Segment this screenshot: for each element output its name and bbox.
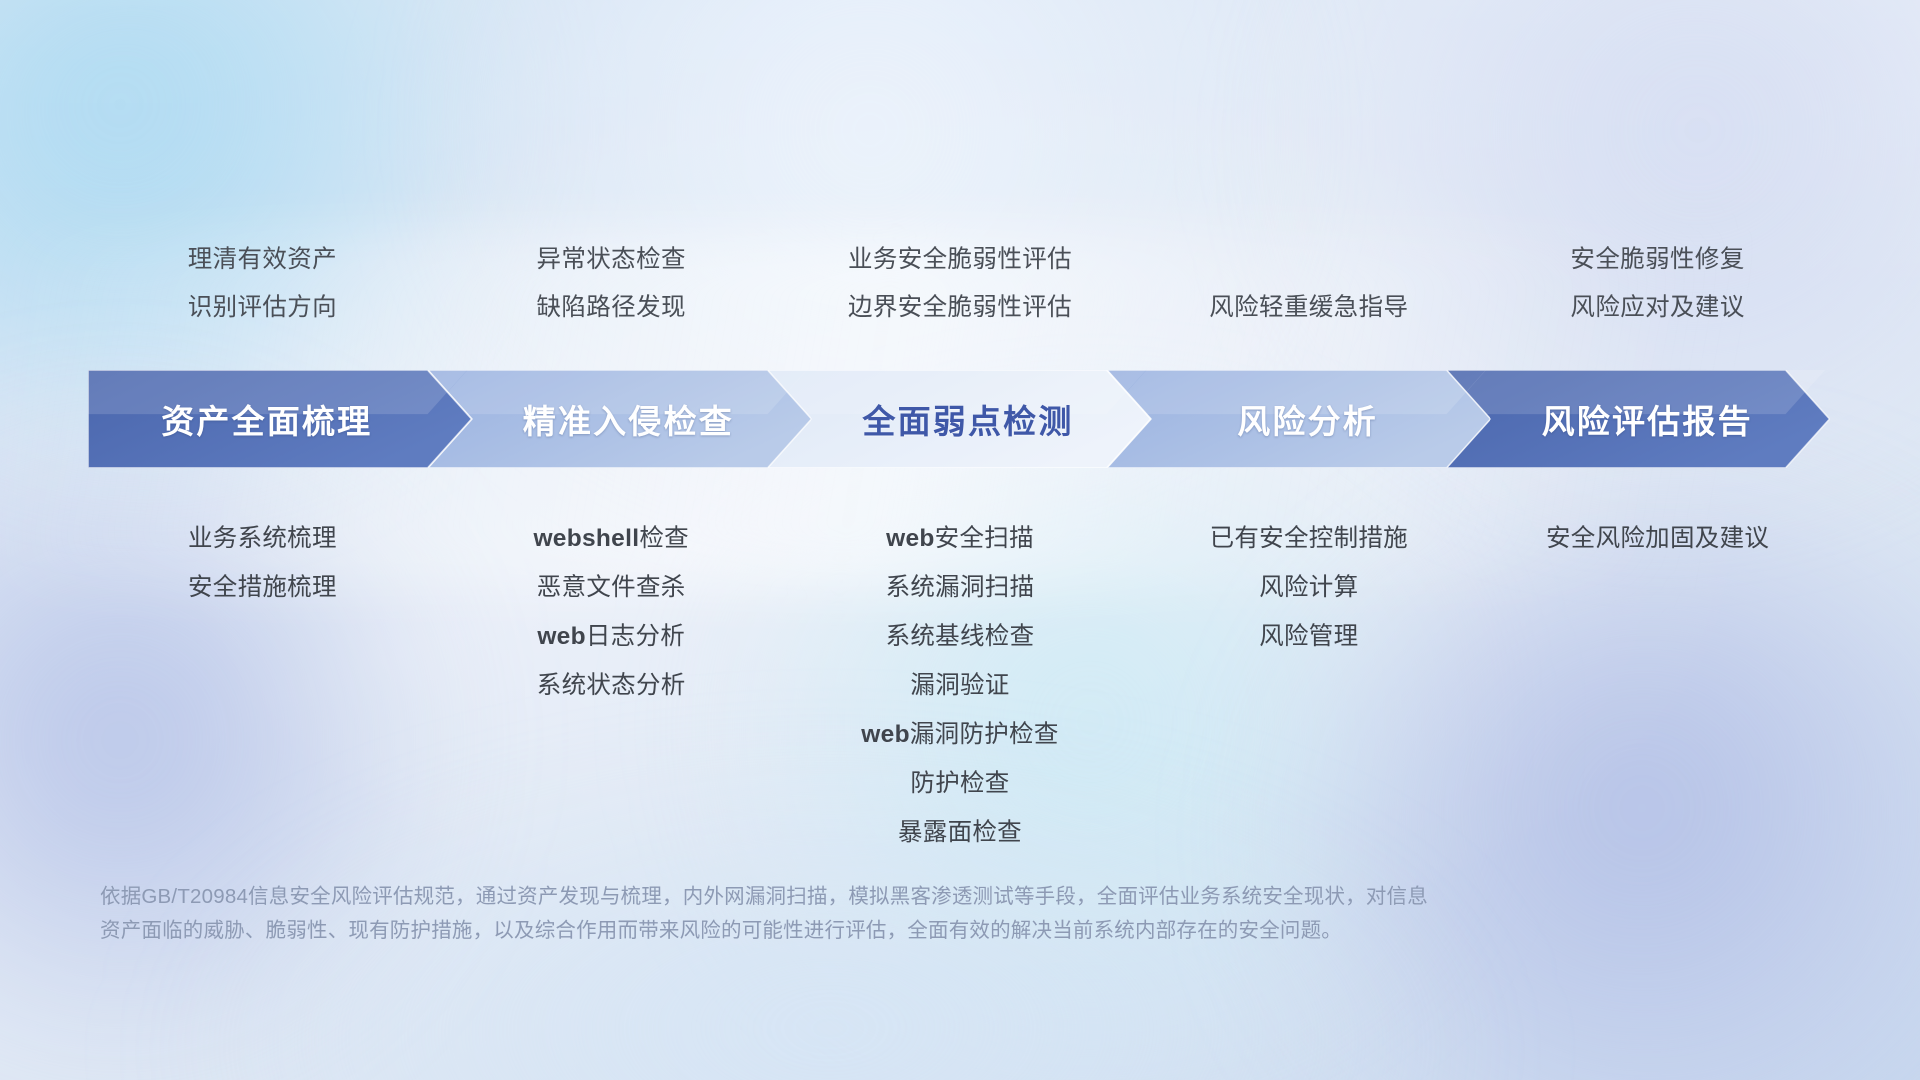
- activity-keyword: web: [886, 525, 935, 552]
- outcome-item: 理清有效资产: [188, 236, 337, 284]
- outcome-item: 风险应对及建议: [1570, 284, 1744, 332]
- activity-text: 漏洞防护检查: [910, 721, 1059, 748]
- outcome-item: 识别评估方向: [188, 284, 337, 332]
- stage-outcomes-risk-analysis: 风险轻重缓急指导: [1134, 236, 1483, 332]
- footer-line-2: 资产面临的威胁、脆弱性、现有防护措施，以及综合作用而带来风险的可能性进行评估，全…: [100, 914, 1620, 948]
- stage-title: 风险分析: [1107, 395, 1491, 443]
- outcome-item: 异常状态检查: [536, 236, 685, 284]
- stage-outcomes-assessment-report: 安全脆弱性修复风险应对及建议: [1483, 236, 1832, 332]
- activity-text: 日志分析: [586, 623, 685, 650]
- process-stage-asset-inventory[interactable]: 资产全面梳理: [88, 370, 472, 468]
- stage-activities-asset-inventory: 业务系统梳理安全措施梳理: [88, 514, 437, 857]
- outcome-item: 业务安全脆弱性评估: [848, 236, 1072, 284]
- activity-item: web日志分析: [537, 612, 685, 661]
- process-arrow-band: 资产全面梳理精准入侵检查全面弱点检测风险分析风险评估报告: [88, 370, 1830, 468]
- activity-item: 安全措施梳理: [188, 563, 337, 612]
- process-stage-weakness-detection[interactable]: 全面弱点检测: [767, 370, 1151, 468]
- process-stage-intrusion-check[interactable]: 精准入侵检查: [428, 370, 812, 468]
- activity-item: 暴露面检查: [898, 808, 1022, 857]
- stage-outcomes-weakness-detection: 业务安全脆弱性评估边界安全脆弱性评估: [786, 236, 1135, 332]
- stage-activities-row: 业务系统梳理安全措施梳理webshell检查恶意文件查杀web日志分析系统状态分…: [88, 514, 1832, 857]
- stage-outcomes-asset-inventory: 理清有效资产识别评估方向: [88, 236, 437, 332]
- activity-item: webshell检查: [533, 514, 689, 563]
- diagram-content: 理清有效资产识别评估方向异常状态检查缺陷路径发现业务安全脆弱性评估边界安全脆弱性…: [0, 0, 1920, 1080]
- activity-keyword: web: [537, 623, 586, 650]
- activity-item: 业务系统梳理: [188, 514, 337, 563]
- activity-item: 系统状态分析: [537, 661, 686, 710]
- activity-item: 安全风险加固及建议: [1546, 514, 1769, 563]
- activity-text: 安全扫描: [935, 525, 1034, 552]
- stage-title: 全面弱点检测: [767, 395, 1151, 443]
- activity-item: 风险计算: [1259, 563, 1358, 612]
- activity-keyword: webshell: [533, 525, 639, 552]
- process-stage-risk-analysis[interactable]: 风险分析: [1107, 370, 1491, 468]
- stage-title: 精准入侵检查: [428, 395, 812, 443]
- diagram-canvas: 理清有效资产识别评估方向异常状态检查缺陷路径发现业务安全脆弱性评估边界安全脆弱性…: [0, 0, 1920, 1080]
- stage-activities-intrusion-check: webshell检查恶意文件查杀web日志分析系统状态分析: [437, 514, 786, 857]
- activity-item: 防护检查: [910, 759, 1009, 808]
- outcome-item: 安全脆弱性修复: [1570, 236, 1744, 284]
- activity-item: web漏洞防护检查: [861, 710, 1058, 759]
- activity-item: 系统基线检查: [886, 612, 1035, 661]
- activity-item: 已有安全控制措施: [1210, 514, 1408, 563]
- activity-item: 漏洞验证: [910, 661, 1009, 710]
- activity-item: 系统漏洞扫描: [886, 563, 1035, 612]
- activity-item: web安全扫描: [886, 514, 1034, 563]
- stage-title: 风险评估报告: [1446, 395, 1830, 443]
- process-stage-assessment-report[interactable]: 风险评估报告: [1446, 370, 1830, 468]
- activity-text: 检查: [639, 525, 689, 552]
- stage-activities-weakness-detection: web安全扫描系统漏洞扫描系统基线检查漏洞验证web漏洞防护检查防护检查暴露面检…: [786, 514, 1135, 857]
- outcome-item: 缺陷路径发现: [536, 284, 685, 332]
- activity-item: 恶意文件查杀: [537, 563, 686, 612]
- activity-keyword: web: [861, 721, 910, 748]
- stage-title: 资产全面梳理: [88, 395, 472, 443]
- outcome-item: 风险轻重缓急指导: [1209, 284, 1408, 332]
- stage-outcomes-intrusion-check: 异常状态检查缺陷路径发现: [437, 236, 786, 332]
- stage-outcomes-row: 理清有效资产识别评估方向异常状态检查缺陷路径发现业务安全脆弱性评估边界安全脆弱性…: [88, 236, 1832, 332]
- outcome-item: 边界安全脆弱性评估: [848, 284, 1072, 332]
- stage-activities-risk-analysis: 已有安全控制措施风险计算风险管理: [1134, 514, 1483, 857]
- activity-item: 风险管理: [1259, 612, 1358, 661]
- footer-line-1: 依据GB/T20984信息安全风险评估规范，通过资产发现与梳理，内外网漏洞扫描，…: [100, 880, 1620, 914]
- stage-activities-assessment-report: 安全风险加固及建议: [1483, 514, 1832, 857]
- footer-description: 依据GB/T20984信息安全风险评估规范，通过资产发现与梳理，内外网漏洞扫描，…: [100, 880, 1620, 948]
